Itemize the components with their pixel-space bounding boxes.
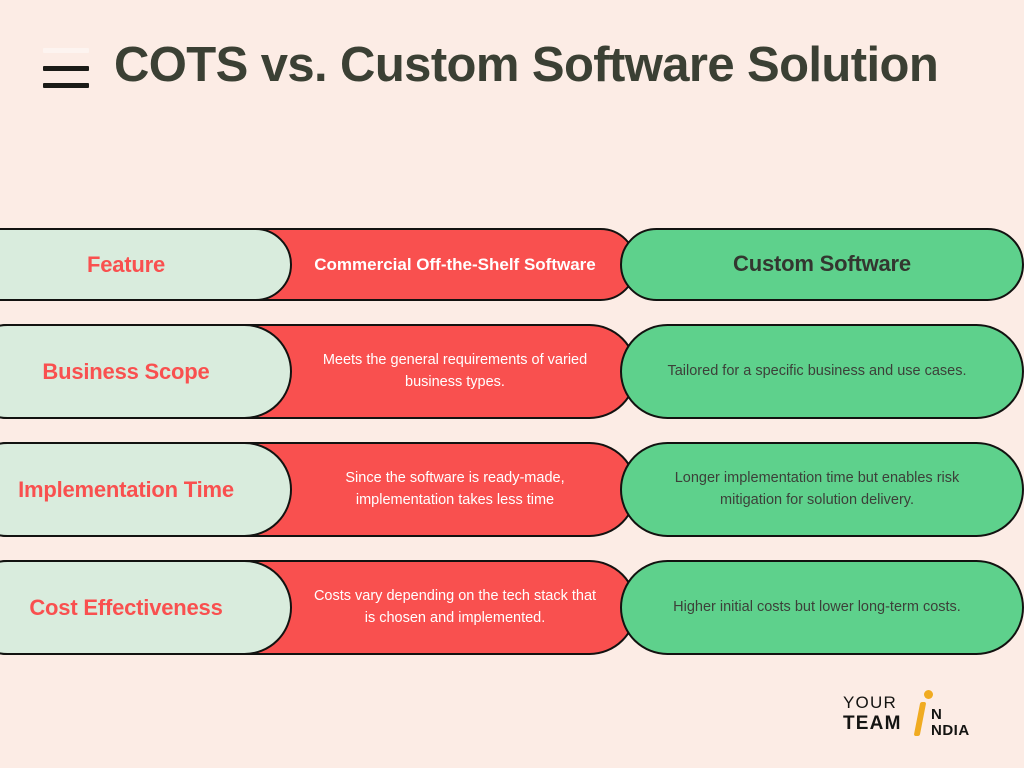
header-label-custom: Custom Software: [723, 251, 921, 277]
header-cell-feature: Feature: [0, 228, 292, 301]
hamburger-menu-icon[interactable]: [43, 48, 89, 88]
menu-bar-bottom: [43, 83, 89, 88]
your-team-in-india-logo: YOUR TEAM N NDIA: [843, 690, 978, 740]
row-text-custom: Tailored for a specific business and use…: [643, 361, 1000, 382]
logo-i-dot: [924, 690, 933, 699]
table-row: Cost Effectiveness Costs vary depending …: [0, 560, 1024, 655]
page-header: COTS vs. Custom Software Solution: [0, 0, 1024, 130]
logo-text-n: N: [931, 706, 942, 723]
row-text-custom: Higher initial costs but lower long-term…: [649, 597, 995, 618]
row-cell-feature: Implementation Time: [0, 442, 292, 537]
header-cell-custom: Custom Software: [620, 228, 1024, 301]
logo-text-team: TEAM: [843, 714, 902, 733]
menu-bar-middle: [43, 66, 89, 71]
logo-wordmark: YOUR TEAM: [843, 694, 902, 733]
row-cell-custom: Tailored for a specific business and use…: [620, 324, 1024, 419]
row-label-feature: Implementation Time: [4, 477, 248, 503]
table-row: Business Scope Meets the general require…: [0, 324, 1024, 419]
logo-text-ndia: NDIA: [931, 722, 970, 739]
table-header-row: Feature Commercial Off-the-Shelf Softwar…: [0, 228, 1024, 301]
row-cell-feature: Cost Effectiveness: [0, 560, 292, 655]
row-text-custom: Longer implementation time but enables r…: [643, 468, 1001, 510]
logo-i-stem: [914, 702, 927, 736]
row-cell-custom: Longer implementation time but enables r…: [620, 442, 1024, 537]
row-label-feature: Business Scope: [28, 359, 223, 385]
logo-text-your: YOUR: [843, 694, 902, 711]
row-cell-feature: Business Scope: [0, 324, 292, 419]
table-row: Implementation Time Since the software i…: [0, 442, 1024, 537]
row-cell-custom: Higher initial costs but lower long-term…: [620, 560, 1024, 655]
menu-bar-top: [43, 48, 89, 53]
row-label-feature: Cost Effectiveness: [15, 595, 236, 621]
page-title: COTS vs. Custom Software Solution: [114, 41, 938, 90]
comparison-table: Feature Commercial Off-the-Shelf Softwar…: [0, 228, 1024, 678]
header-label-feature: Feature: [73, 252, 179, 278]
